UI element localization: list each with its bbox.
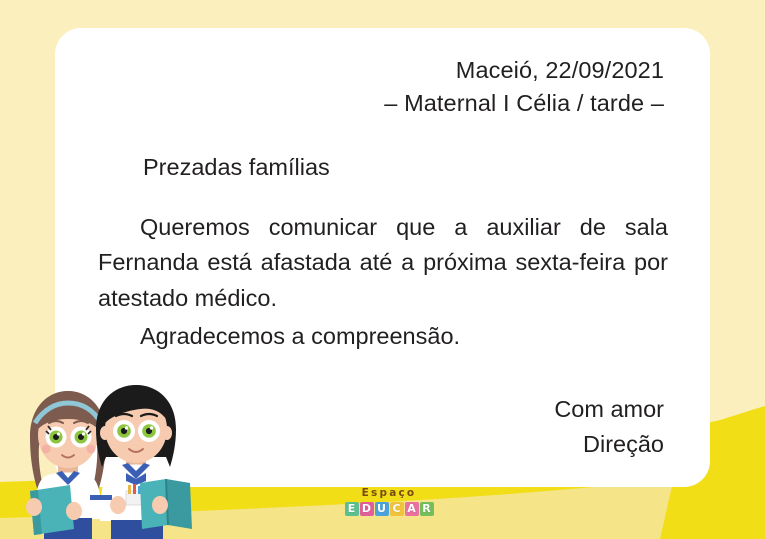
two-school-children-illustration xyxy=(8,379,208,539)
logo-tile-a: A xyxy=(405,502,419,516)
logo-tile-d: D xyxy=(360,502,374,516)
boy-book-right-page xyxy=(166,479,192,529)
location-date: Maceió, 22/09/2021 xyxy=(83,54,664,87)
girl-hand-right xyxy=(66,502,82,520)
logo-tile-r: R xyxy=(420,502,434,516)
logo-tile-u: U xyxy=(375,502,389,516)
logo-tile-e: E xyxy=(345,502,359,516)
girl-cheek-right xyxy=(87,445,96,454)
boy-hand-right xyxy=(152,496,168,514)
boy-eye-glint-left xyxy=(125,426,128,429)
logo-educar-tiles: EDUCAR xyxy=(341,502,437,516)
notice-slide: Maceió, 22/09/2021 – Maternal I Célia / … xyxy=(0,0,765,539)
class-line: – Maternal I Célia / tarde – xyxy=(83,87,664,120)
boy-pencil-2 xyxy=(133,484,136,494)
logo-espaco-text: Espaço xyxy=(341,486,437,500)
boy-pencil-1 xyxy=(128,485,131,494)
boy-ear-right xyxy=(162,426,172,440)
espaco-educar-logo: Espaço EDUCAR xyxy=(341,486,437,526)
salutation: Prezadas famílias xyxy=(83,151,682,184)
paragraph-2: Agradecemos a compreensão. xyxy=(83,319,682,355)
boy-ear-left xyxy=(100,426,110,440)
boy-figure xyxy=(96,385,192,539)
girl-figure xyxy=(26,391,106,539)
boy-sleeve-stripe-left xyxy=(100,495,112,500)
girl-cheek-left xyxy=(42,445,51,454)
letter-header: Maceió, 22/09/2021 – Maternal I Célia / … xyxy=(83,54,682,121)
girl-hand-left xyxy=(26,498,42,516)
boy-eye-glint-right xyxy=(150,426,153,429)
girl-eye-glint-right xyxy=(82,432,85,435)
girl-eye-glint-left xyxy=(57,432,60,435)
logo-tile-c: C xyxy=(390,502,404,516)
paragraph-1: Queremos comunicar que a auxiliar de sal… xyxy=(83,210,682,317)
boy-hand-left xyxy=(110,496,126,514)
